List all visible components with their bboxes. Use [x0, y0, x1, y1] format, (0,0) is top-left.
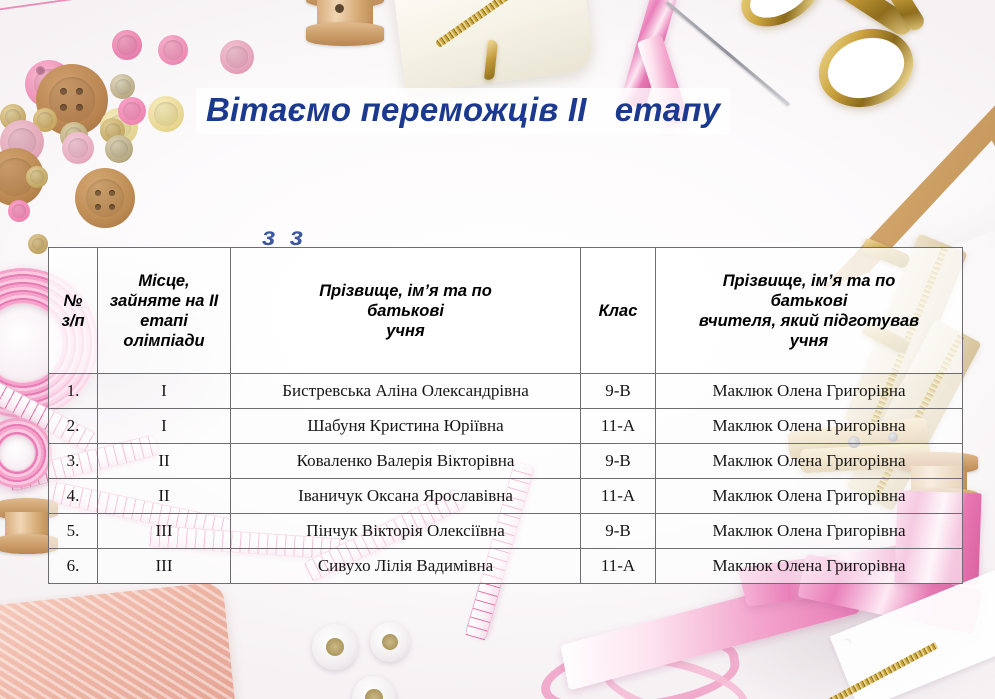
button-metal-icon	[105, 135, 133, 163]
button-metal-icon	[26, 166, 48, 188]
button-hole-icon	[95, 204, 101, 210]
cell-pupil: Бистревська Аліна Олександрівна	[231, 374, 581, 409]
table-row: 1. І Бистревська Аліна Олександрівна 9-В…	[49, 374, 963, 409]
cell-number: 5.	[49, 514, 98, 549]
cell-place: І	[98, 409, 231, 444]
cell-pupil: Шабуня Кристина Юріївна	[231, 409, 581, 444]
table-header-row: № з/п Місце, зайняте на ІІ етапі олімпіа…	[49, 248, 963, 374]
button-pink-icon	[112, 30, 142, 60]
results-table-wrapper: № з/п Місце, зайняте на ІІ етапі олімпіа…	[48, 247, 962, 584]
table-row: 5. ІІІ Пінчук Вікторія Олексіївна 9-В Ма…	[49, 514, 963, 549]
button-hole-icon	[60, 104, 67, 111]
cell-class: 11-А	[581, 409, 656, 444]
button-hole-icon	[76, 104, 83, 111]
button-hole-icon	[76, 88, 83, 95]
button-pink-icon	[118, 97, 146, 125]
button-yellow-icon	[148, 96, 184, 132]
button-pink-icon	[220, 40, 254, 74]
cell-class: 9-В	[581, 514, 656, 549]
cell-class: 11-А	[581, 479, 656, 514]
table-row: 3. ІІ Коваленко Валерія Вікторівна 9-В М…	[49, 444, 963, 479]
cell-teacher: Маклюк Олена Григорівна	[656, 514, 963, 549]
column-header-pupil: Прізвище, ім’я та по батькові учня	[231, 248, 581, 374]
cell-place: ІІІ	[98, 514, 231, 549]
column-header-class: Клас	[581, 248, 656, 374]
hidden-text-fragment: з з	[262, 222, 303, 250]
button-hole-icon	[109, 190, 115, 196]
cell-teacher: Маклюк Олена Григорівна	[656, 409, 963, 444]
cell-number: 3.	[49, 444, 98, 479]
cell-pupil: Коваленко Валерія Вікторівна	[231, 444, 581, 479]
cell-place: ІІ	[98, 444, 231, 479]
table-body: 1. І Бистревська Аліна Олександрівна 9-В…	[49, 374, 963, 584]
table-header: № з/п Місце, зайняте на ІІ етапі олімпіа…	[49, 248, 963, 374]
results-table: № з/п Місце, зайняте на ІІ етапі олімпіа…	[48, 247, 963, 584]
column-header-teacher: Прізвище, ім’я та по батькові вчителя, я…	[656, 248, 963, 374]
cell-number: 1.	[49, 374, 98, 409]
button-pink-icon	[158, 35, 188, 65]
column-header-number: № з/п	[49, 248, 98, 374]
bobbin-icon	[370, 622, 410, 662]
column-header-place: Місце, зайняте на ІІ етапі олімпіади	[98, 248, 231, 374]
button-pink-icon	[8, 200, 30, 222]
button-hole-icon	[109, 204, 115, 210]
cell-class: 9-В	[581, 444, 656, 479]
cell-number: 2.	[49, 409, 98, 444]
table-row: 2. І Шабуня Кристина Юріївна 11-А Маклюк…	[49, 409, 963, 444]
cell-class: 11-А	[581, 549, 656, 584]
cell-pupil: Іваничук Оксана Ярославівна	[231, 479, 581, 514]
cell-number: 4.	[49, 479, 98, 514]
button-hole-icon	[60, 88, 67, 95]
button-hole-icon	[36, 66, 45, 75]
slide-title-banner: Вітаємо переможців ІІ етапу	[196, 88, 730, 134]
cell-number: 6.	[49, 549, 98, 584]
cell-place: ІІ	[98, 479, 231, 514]
cell-pupil: Пінчук Вікторія Олексіївна	[231, 514, 581, 549]
button-metal-icon	[28, 234, 48, 254]
cell-class: 9-В	[581, 374, 656, 409]
thread-spool-icon	[306, 0, 384, 48]
slide-canvas: з з Вітаємо переможців ІІ етапу № з/п Мі…	[0, 0, 995, 699]
table-row: 4. ІІ Іваничук Оксана Ярославівна 11-А М…	[49, 479, 963, 514]
cell-place: І	[98, 374, 231, 409]
cell-teacher: Маклюк Олена Григорівна	[656, 479, 963, 514]
button-wood-icon	[75, 168, 135, 228]
cell-pupil: Сивухо Лілія Вадимівна	[231, 549, 581, 584]
cell-teacher: Маклюк Олена Григорівна	[656, 549, 963, 584]
button-pink-icon	[62, 132, 94, 164]
cell-place: ІІІ	[98, 549, 231, 584]
bobbin-icon	[312, 624, 358, 670]
table-row: 6. ІІІ Сивухо Лілія Вадимівна 11-А Маклю…	[49, 549, 963, 584]
cell-teacher: Маклюк Олена Григорівна	[656, 444, 963, 479]
button-metal-icon	[110, 74, 135, 99]
page-title: Вітаємо переможців ІІ етапу	[206, 90, 720, 130]
button-hole-icon	[95, 190, 101, 196]
cell-teacher: Маклюк Олена Григорівна	[656, 374, 963, 409]
spool-hole-icon	[335, 4, 344, 13]
